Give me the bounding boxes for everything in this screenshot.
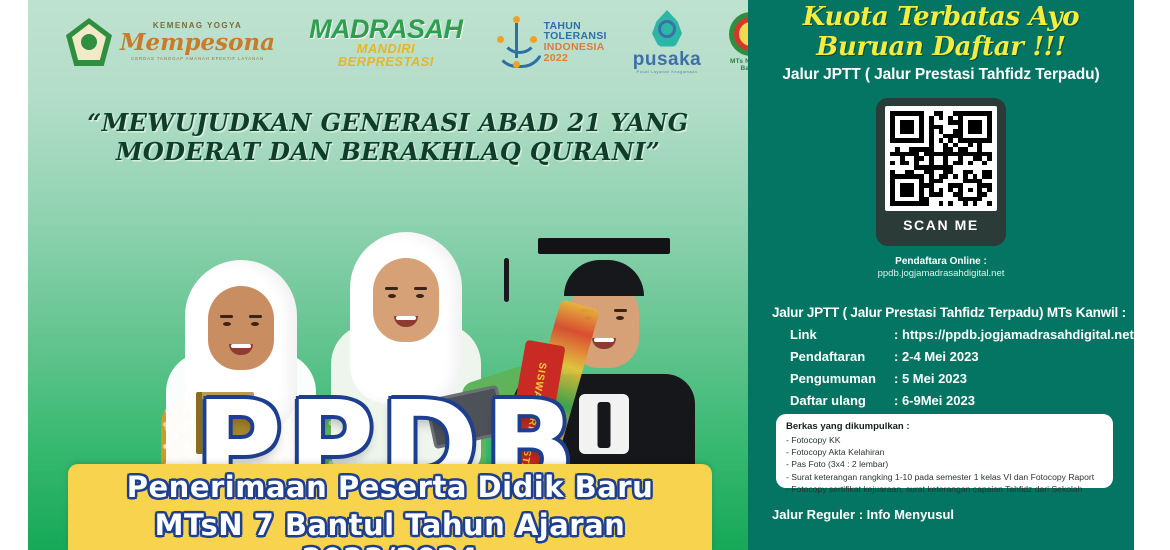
madrasah-tagline: MANDIRI BERPRESTASI: [309, 42, 463, 68]
mempesona-logo: KEMENAG YOGYA Mempesona CERDAS TANGGAP A…: [120, 22, 275, 62]
mempesona-tagline: CERDAS TANGGAP AMANAH EFEKTIF LAYANAN: [120, 57, 275, 62]
jalur-subtitle: Jalur JPTT ( Jalur Prestasi Tahfidz Terp…: [748, 66, 1134, 84]
toleransi-line-4: 2022: [544, 53, 607, 64]
info-key: Daftar ulang: [790, 393, 894, 408]
mempesona-wordmark: Mempesona: [120, 31, 275, 54]
required-documents-box: Berkas yang dikumpulkan : - Fotocopy KK …: [776, 414, 1113, 488]
document-item: - Surat keterangan rangking 1-10 pada se…: [786, 471, 1103, 483]
right-info-panel: Kuota Terbatas Ayo Buruan Daftar !!! Jal…: [748, 0, 1134, 550]
toleransi-text: TAHUN TOLERANSI INDONESIA 2022: [544, 21, 607, 64]
yellow-title-banner: Penerimaan Peserta Didik Baru MTsN 7 Ban…: [68, 464, 712, 550]
pusaka-tagline: Pusat Layanan Keagamaan: [633, 70, 701, 74]
mtsn-7-bantul-logo: MTs Negeri 7 Bantul: [729, 12, 748, 72]
banner-line-1: Penerimaan Peserta Didik Baru: [68, 464, 712, 504]
info-row-link: Link : https://ppdb.jogjamadrasahdigital…: [790, 327, 1134, 342]
mtsn-logo-label: MTs Negeri 7 Bantul: [729, 59, 748, 72]
pusaka-wordmark: pusaka: [633, 50, 701, 69]
info-value: : 2-4 Mei 2023: [894, 349, 979, 364]
info-row-pendaftaran: Pendaftaran : 2-4 Mei 2023: [790, 349, 1134, 364]
school-motto: “MEWUJUDKAN GENERASI ABAD 21 YANG MODERA…: [28, 108, 748, 167]
jalur-reguler-footer: Jalur Reguler : Info Menyusul: [772, 507, 954, 522]
document-item: - Fotocopy Akta Kelahiran: [786, 446, 1103, 458]
graduation-cap-icon: [538, 238, 670, 254]
jptt-section-heading: Jalur JPTT ( Jalur Prestasi Tahfidz Terp…: [772, 305, 1134, 320]
info-value: : 6-9Mei 2023: [894, 393, 975, 408]
madrasah-wordmark: MADRASAH: [309, 16, 463, 43]
madrasah-mandiri-logo: MADRASAH MANDIRI BERPRESTASI: [309, 16, 463, 68]
logo-row: KEMENAG YOGYA Mempesona CERDAS TANGGAP A…: [28, 4, 748, 80]
documents-heading: Berkas yang dikumpulkan :: [786, 421, 1103, 432]
pusaka-logo: pusaka Pusat Layanan Keagamaan: [633, 10, 701, 74]
info-value[interactable]: : https://ppdb.jogjamadrasahdigital.net/: [894, 327, 1134, 342]
kemenag-logo-icon: [66, 18, 112, 66]
qr-code-block[interactable]: SCAN ME: [876, 98, 1006, 246]
tahun-toleransi-logo: TAHUN TOLERANSI INDONESIA 2022: [495, 16, 607, 68]
info-key: Pengumuman: [790, 371, 894, 386]
registration-url[interactable]: ppdb.jogjamadrasahdigital.net: [748, 268, 1134, 279]
document-item: - Pas Foto (3x4 : 2 lembar): [786, 458, 1103, 470]
motto-line-2: MODERAT DAN BERAKHLAQ QURANI”: [28, 137, 748, 166]
info-key: Link: [790, 327, 894, 342]
qr-code-image[interactable]: [885, 106, 997, 211]
registration-online-label: Pendaftara Online :: [748, 256, 1134, 267]
banner-line-2: MTsN 7 Bantul Tahun Ajaran 2023/2024: [68, 508, 712, 550]
toleransi-symbol-icon: [495, 16, 539, 68]
pusaka-droplet-icon: [652, 10, 682, 48]
scan-me-label: SCAN ME: [903, 217, 979, 233]
left-panel: KEMENAG YOGYA Mempesona CERDAS TANGGAP A…: [28, 0, 748, 550]
info-value: : 5 Mei 2023: [894, 371, 967, 386]
document-item: - Fotocopy KK: [786, 434, 1103, 446]
mtsn-emblem-icon: [729, 12, 748, 56]
motto-line-1: “MEWUJUDKAN GENERASI ABAD 21 YANG: [28, 108, 748, 137]
ppdb-poster: KEMENAG YOGYA Mempesona CERDAS TANGGAP A…: [0, 0, 1170, 550]
quota-headline: Kuota Terbatas Ayo Buruan Daftar !!!: [748, 2, 1134, 62]
info-row-pengumuman: Pengumuman : 5 Mei 2023: [790, 371, 1134, 386]
info-row-daftar-ulang: Daftar ulang : 6-9Mei 2023: [790, 393, 1134, 408]
document-item: - Fotocopy sertifikat kejuaraan, surat k…: [786, 483, 1103, 495]
info-key: Pendaftaran: [790, 349, 894, 364]
